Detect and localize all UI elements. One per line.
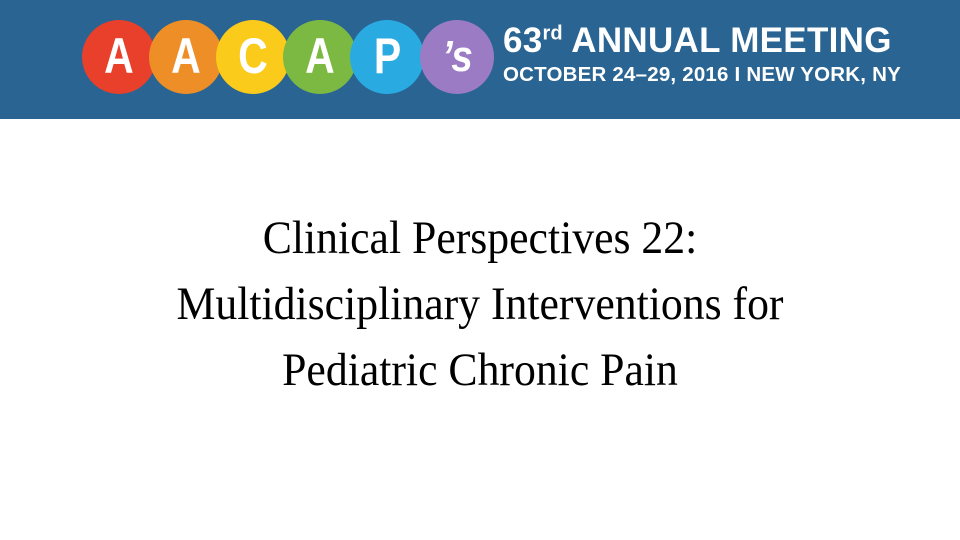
logo-letter-apostrophe-s: ’s: [442, 35, 472, 79]
meeting-dates-location: OCTOBER 24–29, 2016 I NEW YORK, NY: [503, 63, 923, 87]
logo-circle-c: C: [216, 20, 290, 94]
logo-circle-apostrophe-s: ’s: [420, 20, 494, 94]
logo-circle-a1: A: [82, 20, 156, 94]
slide-title-line-3: Pediatric Chronic Pain: [71, 337, 889, 403]
slide-title: Clinical Perspectives 22: Multidisciplin…: [40, 205, 920, 403]
meeting-number: 63: [503, 21, 543, 60]
meeting-title: 63rd ANNUAL MEETING: [503, 22, 923, 60]
meeting-banner-text: 63rd ANNUAL MEETING OCTOBER 24–29, 2016 …: [503, 22, 923, 87]
logo-letter-c: C: [239, 31, 268, 81]
slide-title-line-1: Clinical Perspectives 22:: [71, 205, 889, 271]
logo-letter-p: P: [374, 31, 401, 81]
logo-circle-a2: A: [149, 20, 223, 94]
aacap-logo: A A C A P ’s: [82, 20, 492, 96]
logo-circle-p: P: [350, 20, 424, 94]
logo-letter-a2: A: [172, 31, 201, 81]
logo-circle-a3: A: [283, 20, 357, 94]
logo-letter-a3: A: [306, 31, 335, 81]
presentation-slide: A A C A P ’s 63rd ANNUAL MEETING OCTOBER…: [0, 0, 960, 540]
meeting-ordinal-suffix: rd: [543, 22, 563, 44]
slide-title-line-2: Multidisciplinary Interventions for: [71, 271, 889, 337]
meeting-title-rest: ANNUAL MEETING: [563, 21, 892, 60]
logo-letter-a1: A: [105, 31, 134, 81]
header-banner: A A C A P ’s 63rd ANNUAL MEETING OCTOBER…: [0, 0, 960, 119]
